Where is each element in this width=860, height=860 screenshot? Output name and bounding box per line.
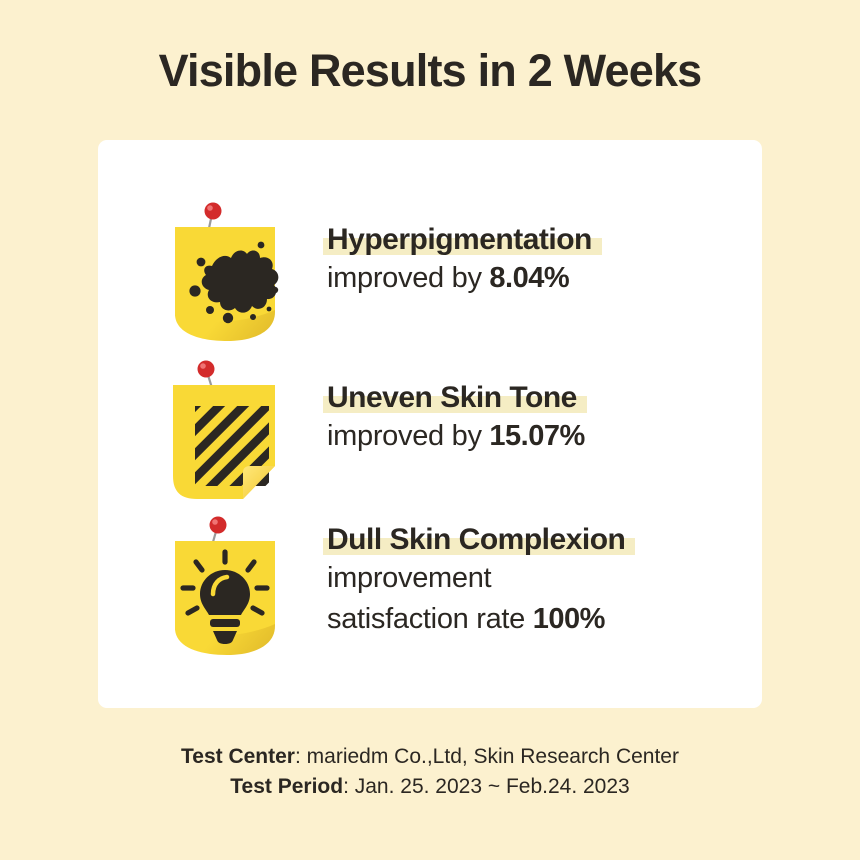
result-headline: Dull Skin Complexion: [327, 522, 625, 557]
test-center-separator: :: [295, 745, 307, 768]
result-headline: Uneven Skin Tone: [327, 380, 577, 415]
result-value: 8.04%: [489, 262, 569, 294]
test-period-separator: :: [343, 775, 355, 798]
result-subline: improved by 15.07%: [327, 417, 585, 456]
result-value: 100%: [533, 603, 605, 635]
list-item: Dull Skin Complexion improvement satisfa…: [165, 514, 625, 660]
result-text: Hyperpigmentation improved by 8.04%: [327, 200, 592, 298]
diagonal-stripes-sticky-note-icon: [165, 358, 291, 504]
test-period-line: Test Period: Jan. 25. 2023 ~ Feb.24. 202…: [0, 772, 860, 802]
results-card: Hyperpigmentation improved by 8.04%: [98, 140, 762, 708]
results-list: Hyperpigmentation improved by 8.04%: [98, 140, 762, 708]
result-subline-1: improvement: [327, 559, 625, 598]
page-title: Visible Results in 2 Weeks: [0, 44, 860, 98]
footer: Test Center: mariedm Co.,Ltd, Skin Resea…: [0, 742, 860, 803]
test-center-value: mariedm Co.,Ltd, Skin Research Center: [307, 745, 679, 768]
ink-splatter-sticky-note-icon: [165, 200, 291, 346]
result-subline: improved by 8.04%: [327, 259, 592, 298]
list-item: Uneven Skin Tone improved by 15.07%: [165, 358, 585, 504]
list-item: Hyperpigmentation improved by 8.04%: [165, 200, 592, 346]
result-text: Dull Skin Complexion improvement satisfa…: [327, 514, 625, 639]
result-headline: Hyperpigmentation: [327, 222, 592, 257]
lightbulb-sticky-note-icon: [165, 514, 291, 660]
test-period-label: Test Period: [230, 775, 343, 798]
result-subline-2: satisfaction rate 100%: [327, 600, 625, 639]
result-text: Uneven Skin Tone improved by 15.07%: [327, 358, 585, 456]
test-period-value: Jan. 25. 2023 ~ Feb.24. 2023: [355, 775, 630, 798]
test-center-label: Test Center: [181, 745, 295, 768]
test-center-line: Test Center: mariedm Co.,Ltd, Skin Resea…: [0, 742, 860, 772]
results-poster: Visible Results in 2 Weeks: [0, 0, 860, 860]
result-value: 15.07%: [489, 420, 584, 452]
